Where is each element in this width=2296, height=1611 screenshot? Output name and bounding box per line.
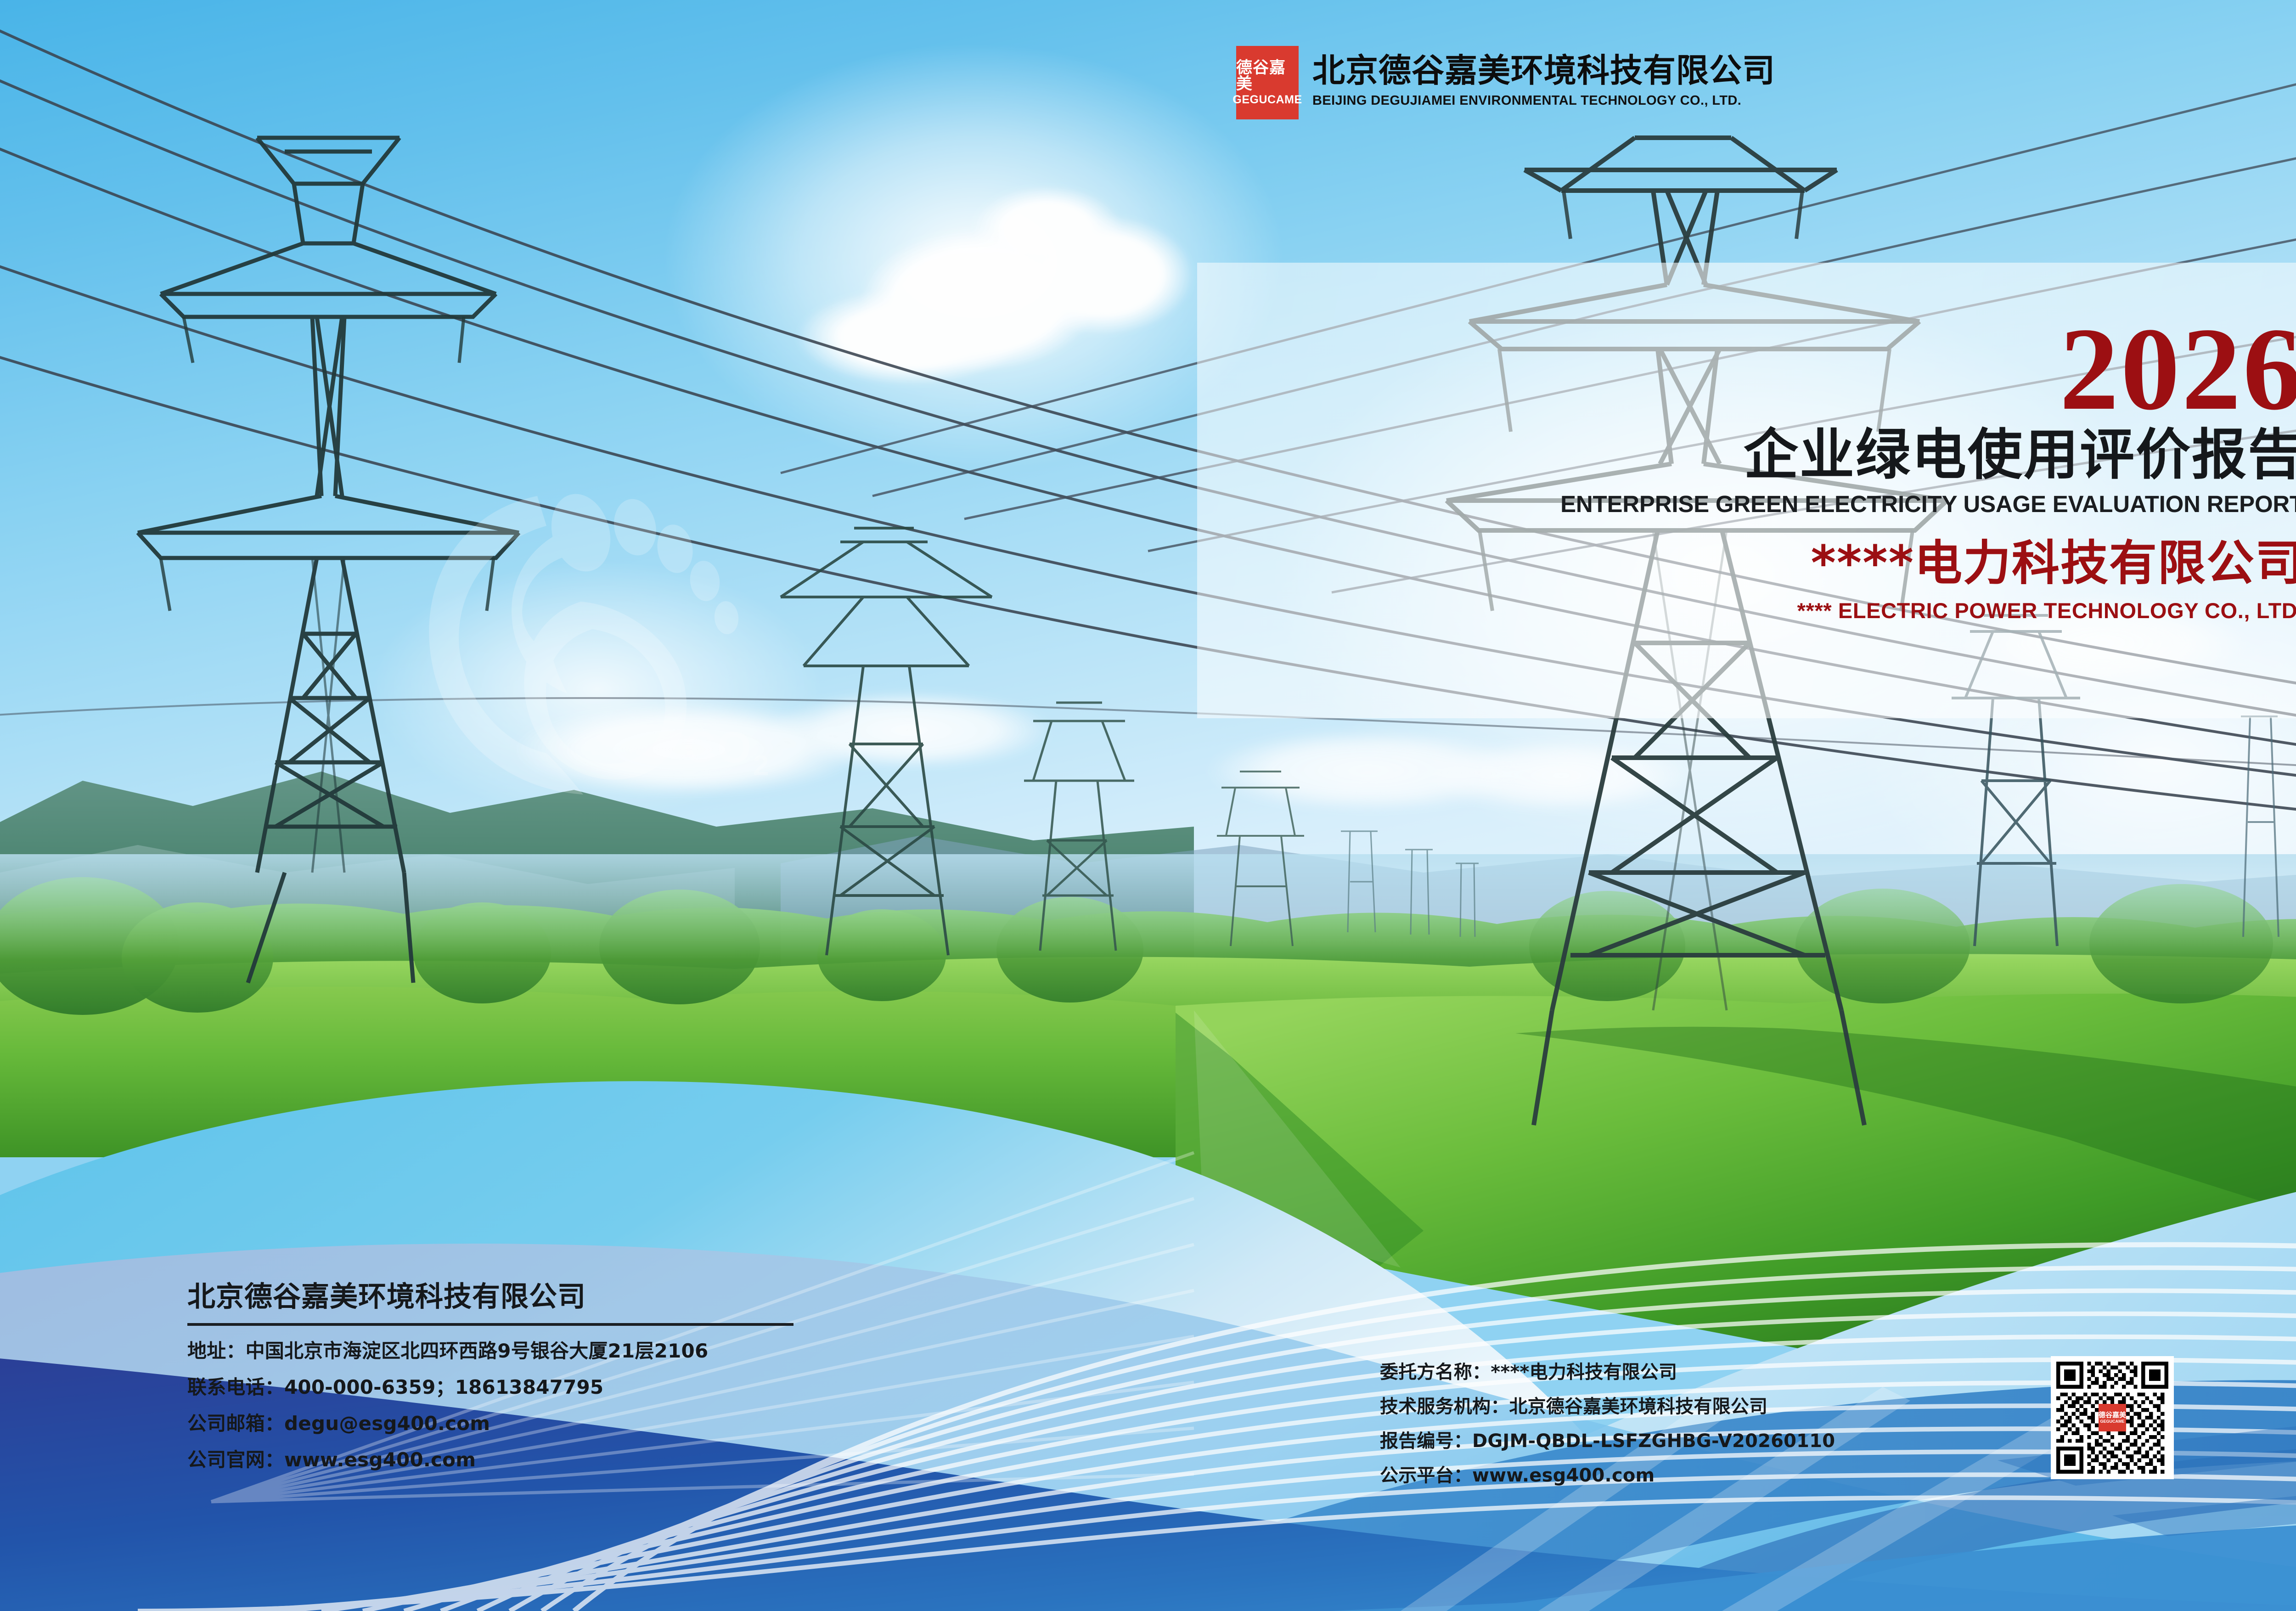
header-company-en: BEIJING DEGUJIAMEI ENVIRONMENTAL TECHNOL… — [1312, 93, 1775, 108]
footer-address: 地址：中国北京市海淀区北四环西路9号银谷大厦21层2106 — [187, 1341, 876, 1361]
qr-logo-en: GEGUCAME — [2100, 1419, 2124, 1424]
cover-title-block: 2026 企业绿电使用评价报告 ENTERPRISE GREEN ELECTRI… — [926, 317, 2296, 623]
footer-website: 公司官网：www.esg400.com — [187, 1450, 876, 1470]
svg-text:CO: CO — [684, 723, 752, 772]
footer-company-block: 北京德谷嘉美环境科技有限公司 地址：中国北京市海淀区北四环西路9号银谷大厦21层… — [187, 1281, 876, 1487]
svg-text:2: 2 — [753, 750, 769, 782]
logo-en-text: GEGUCAME — [1232, 94, 1302, 106]
report-title-cn: 企业绿电使用评价报告 — [926, 425, 2296, 486]
meta-client: 委托方名称：****电力科技有限公司 — [1380, 1363, 2023, 1381]
report-title-en: ENTERPRISE GREEN ELECTRICITY USAGE EVALU… — [926, 490, 2296, 518]
meta-platform: 公示平台：www.esg400.com — [1380, 1466, 2023, 1485]
carbon-footprint-watermark: CO 2 — [400, 468, 776, 827]
company-logo-mark: 德谷嘉美 GEGUCAME — [1236, 46, 1299, 119]
client-name-en: **** ELECTRIC POWER TECHNOLOGY CO., LTD. — [926, 598, 2296, 623]
qr-logo-cn: 德谷嘉美 — [2099, 1412, 2126, 1419]
footer-company-name: 北京德谷嘉美环境科技有限公司 — [187, 1281, 876, 1312]
logo-cn-text: 德谷嘉美 — [1236, 60, 1299, 92]
qr-center-logo: 德谷嘉美 GEGUCAME — [2099, 1404, 2126, 1431]
report-year: 2026 — [926, 317, 2296, 421]
footer-divider — [187, 1323, 793, 1326]
client-name-cn: ****电力科技有限公司 — [926, 537, 2296, 589]
meta-report-number: 报告编号：DGJM-QBDL-LSFZGHBG-V20260110 — [1380, 1432, 2023, 1450]
footer-contact-list: 地址：中国北京市海淀区北四环西路9号银谷大厦21层2106 联系电话：400-0… — [187, 1341, 876, 1470]
qr-code[interactable]: 德谷嘉美 GEGUCAME — [2051, 1356, 2174, 1479]
header-brand-text: 北京德谷嘉美环境科技有限公司 BEIJING DEGUJIAMEI ENVIRO… — [1312, 46, 1775, 108]
footer-report-meta: 委托方名称：****电力科技有限公司 技术服务机构：北京德谷嘉美环境科技有限公司… — [1380, 1363, 2023, 1501]
footer-phone: 联系电话：400-000-6359；18613847795 — [187, 1378, 876, 1397]
footer-email: 公司邮箱：degu@esg400.com — [187, 1414, 876, 1433]
meta-service-org: 技术服务机构：北京德谷嘉美环境科技有限公司 — [1380, 1397, 2023, 1416]
header-company-cn: 北京德谷嘉美环境科技有限公司 — [1312, 54, 1775, 87]
header-brand: 德谷嘉美 GEGUCAME 北京德谷嘉美环境科技有限公司 BEIJING DEG… — [1236, 46, 1775, 119]
report-cover: CO 2 德谷嘉美 GEGUCAME 北京德谷嘉美环境科技有限公司 BEIJIN… — [0, 0, 2296, 1611]
